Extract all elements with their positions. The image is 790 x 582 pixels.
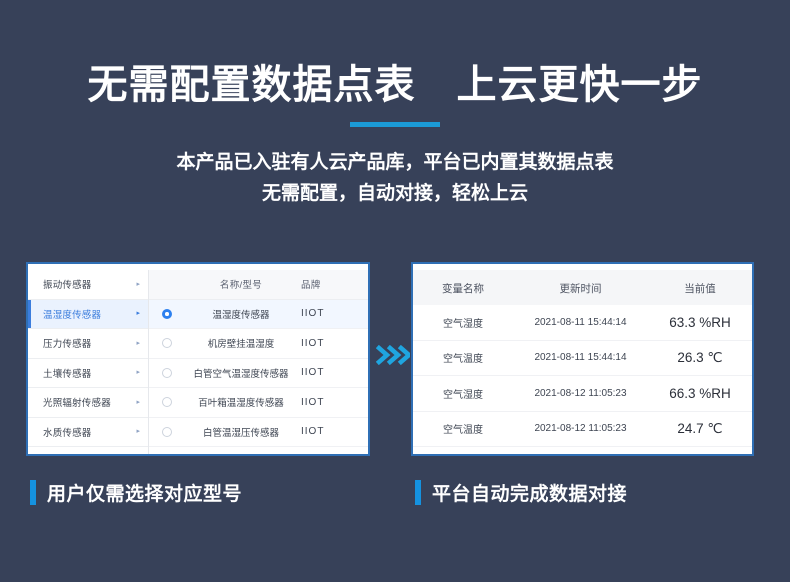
model-brand: IIOT (297, 426, 368, 437)
column-header-value: 当前值 (684, 283, 716, 295)
model-name: 温湿度传感器 (185, 307, 297, 321)
sidebar-item-vibration[interactable]: 振动传感器 ▸ (28, 270, 148, 300)
sidebar-item-wind[interactable]: 风速风向传感器 ▸ (28, 447, 148, 456)
table-row[interactable]: 白管温湿压传感器 IIOT (149, 418, 368, 448)
model-table-header: 名称/型号 品牌 (149, 270, 368, 300)
column-header-variable: 变量名称 (442, 283, 484, 295)
chevron-right-icon: ▸ (136, 428, 140, 435)
update-time: 2021-08-11 15:44:14 (513, 317, 648, 328)
sidebar-item-light-radiation[interactable]: 光照辐射传感器 ▸ (28, 388, 148, 418)
sidebar-item-pressure[interactable]: 压力传感器 ▸ (28, 329, 148, 359)
subtitle-line-2: 无需配置，自动对接，轻松上云 (0, 178, 790, 209)
column-header-name: 名称/型号 (220, 280, 262, 291)
sensor-category-list: 振动传感器 ▸ 温湿度传感器 ▸ 压力传感器 ▸ 土壤传感器 ▸ 光照辐射传感器… (28, 270, 149, 454)
page-title: 无需配置数据点表 上云更快一步 (0, 0, 790, 108)
model-name: 白管空气温湿度传感器 (185, 366, 297, 380)
model-name: 百叶箱温湿度传感器 (185, 395, 297, 409)
hero-section: 无需配置数据点表 上云更快一步 本产品已入驻有人云产品库，平台已内置其数据点表 … (0, 0, 790, 209)
product-selection-panel: 振动传感器 ▸ 温湿度传感器 ▸ 压力传感器 ▸ 土壤传感器 ▸ 光照辐射传感器… (26, 262, 370, 456)
radio-button-icon[interactable] (162, 368, 172, 378)
radio-button-icon[interactable] (162, 338, 172, 348)
chevron-right-icon: ▸ (136, 310, 140, 317)
hero-subtitle: 本产品已入驻有人云产品库，平台已内置其数据点表 无需配置，自动对接，轻松上云 (0, 127, 790, 209)
sidebar-item-label: 压力传感器 (43, 336, 136, 350)
table-row[interactable]: 空气湿度 2021-08-11 15:44:14 63.3 %RH (413, 305, 752, 341)
table-row[interactable]: 百叶箱温湿度传感器 IIOT (149, 388, 368, 418)
sidebar-item-water-quality[interactable]: 水质传感器 ▸ (28, 418, 148, 448)
update-time: 2021-08-12 11:05:23 (513, 423, 648, 434)
table-row[interactable]: 空气温度 2021-08-11 15:44:14 26.3 ℃ (413, 341, 752, 377)
sidebar-item-label: 振动传感器 (43, 277, 136, 291)
triple-chevron-right-icon (376, 340, 410, 370)
data-points-panel: 变量名称 更新时间 当前值 空气湿度 2021-08-11 15:44:14 6… (411, 262, 754, 456)
table-row[interactable]: 机房壁挂温湿度 IIOT (149, 329, 368, 359)
sidebar-item-label: 水质传感器 (43, 425, 136, 439)
column-header-updated: 更新时间 (560, 283, 602, 295)
accent-bar (415, 480, 421, 505)
model-brand: IIOT (297, 338, 368, 349)
radio-button-icon[interactable] (162, 397, 172, 407)
chevron-right-icon: ▸ (136, 369, 140, 376)
chevron-right-icon: ▸ (136, 281, 140, 288)
current-value: 66.3 %RH (648, 386, 752, 401)
caption-right: 平台自动完成数据对接 (415, 479, 627, 506)
sidebar-item-label: 风速风向传感器 (43, 454, 136, 456)
table-row[interactable]: 白管空气温湿度传感器 IIOT (149, 359, 368, 389)
sidebar-item-label: 土壤传感器 (43, 366, 136, 380)
sidebar-item-label: 温湿度传感器 (43, 307, 136, 321)
table-row[interactable]: 空气温度 2021-08-12 11:05:23 24.7 ℃ (413, 412, 752, 448)
table-row[interactable]: 空气湿度 2021-08-12 11:05:23 66.3 %RH (413, 376, 752, 412)
chevron-right-icon: ▸ (136, 399, 140, 406)
radio-button-icon[interactable] (162, 427, 172, 437)
model-name: 机房壁挂温湿度 (185, 336, 297, 350)
update-time: 2021-08-11 15:44:14 (513, 352, 648, 363)
model-table: 名称/型号 品牌 温湿度传感器 IIOT 机房壁挂温湿度 IIOT 白管空气温湿… (149, 270, 368, 454)
accent-bar (30, 480, 36, 505)
caption-left-text: 用户仅需选择对应型号 (47, 479, 242, 506)
current-value: 26.3 ℃ (648, 350, 752, 366)
chevron-right-icon: ▸ (136, 340, 140, 347)
sidebar-item-temp-humidity[interactable]: 温湿度传感器 ▸ (28, 300, 148, 330)
current-value: 63.3 %RH (648, 315, 752, 330)
current-value: 24.7 ℃ (648, 421, 752, 437)
model-brand: IIOT (297, 308, 368, 319)
data-table-header: 变量名称 更新时间 当前值 (413, 270, 752, 305)
data-table: 变量名称 更新时间 当前值 空气湿度 2021-08-11 15:44:14 6… (413, 264, 752, 454)
variable-name: 空气湿度 (413, 315, 513, 330)
model-brand: IIOT (297, 367, 368, 378)
caption-left: 用户仅需选择对应型号 (30, 479, 242, 506)
radio-button-icon[interactable] (162, 309, 172, 319)
model-brand: IIOT (297, 397, 368, 408)
table-row[interactable]: 温湿度传感器 IIOT (149, 300, 368, 330)
variable-name: 空气温度 (413, 350, 513, 365)
subtitle-line-1: 本产品已入驻有人云产品库，平台已内置其数据点表 (0, 147, 790, 178)
variable-name: 空气温度 (413, 421, 513, 436)
update-time: 2021-08-12 11:05:23 (513, 388, 648, 399)
sidebar-item-label: 光照辐射传感器 (43, 395, 136, 409)
column-header-brand: 品牌 (301, 280, 321, 291)
variable-name: 空气湿度 (413, 386, 513, 401)
caption-right-text: 平台自动完成数据对接 (432, 479, 627, 506)
model-name: 白管温湿压传感器 (185, 425, 297, 439)
sidebar-item-soil[interactable]: 土壤传感器 ▸ (28, 359, 148, 389)
